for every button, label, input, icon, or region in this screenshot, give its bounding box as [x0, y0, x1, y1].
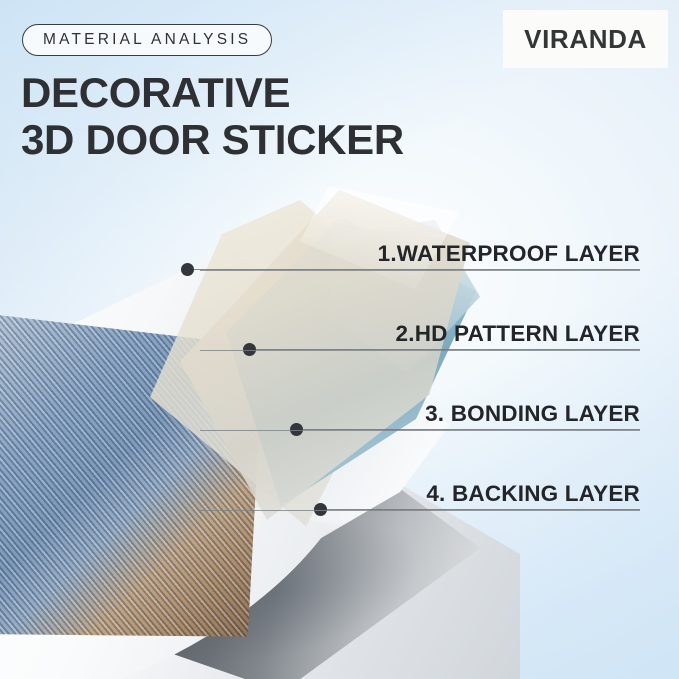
callout-hd-pattern: 2.HD PATTERN LAYER	[200, 321, 640, 351]
callout-label-backing: 4. BACKING LAYER	[200, 481, 640, 507]
callout-rule-bonding	[200, 430, 640, 431]
callout-rule-backing	[200, 510, 640, 511]
callout-dot-waterproof	[181, 263, 194, 276]
page-title-line-1: DECORATIVE	[21, 69, 491, 116]
callout-label-waterproof: 1.WATERPROOF LAYER	[200, 241, 640, 267]
callout-waterproof: 1.WATERPROOF LAYER	[200, 241, 640, 271]
callout-label-bonding: 3. BONDING LAYER	[200, 401, 640, 427]
callout-bonding: 3. BONDING LAYER	[200, 401, 640, 431]
page-title: DECORATIVE 3D DOOR STICKER	[21, 69, 491, 163]
callout-rule-hd-pattern	[200, 350, 640, 351]
material-analysis-infographic: 1.WATERPROOF LAYER 2.HD PATTERN LAYER 3.…	[0, 0, 679, 679]
badge-label: MATERIAL ANALYSIS	[43, 31, 251, 49]
material-analysis-badge: MATERIAL ANALYSIS	[22, 24, 272, 56]
callout-rule-waterproof	[200, 270, 640, 271]
brand-logo: VIRANDA	[503, 10, 668, 68]
page-title-line-2: 3D DOOR STICKER	[21, 116, 491, 163]
callout-label-hd-pattern: 2.HD PATTERN LAYER	[200, 321, 640, 347]
brand-name: VIRANDA	[524, 24, 647, 55]
callout-backing: 4. BACKING LAYER	[200, 481, 640, 511]
